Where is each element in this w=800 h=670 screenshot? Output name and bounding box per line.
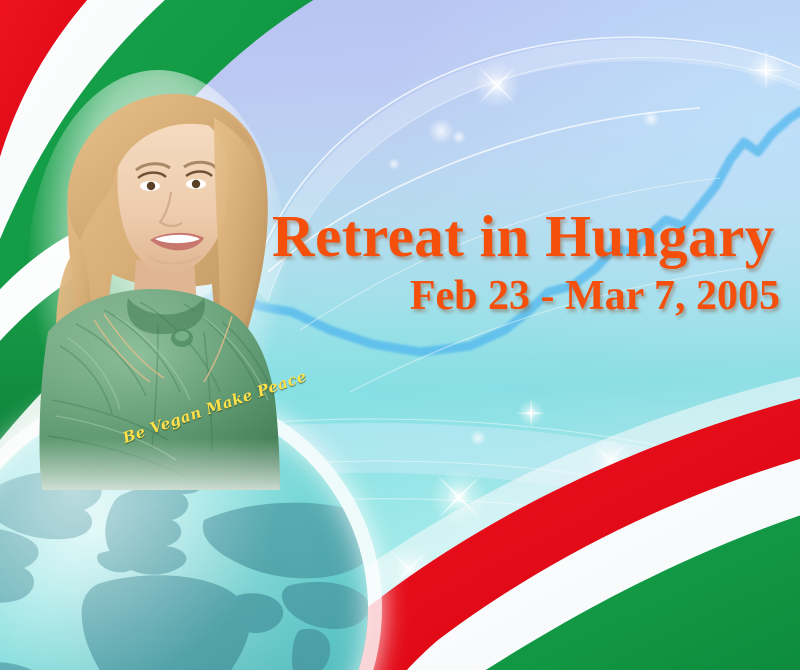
event-dates: Feb 23 - Mar 7, 2005 (272, 274, 792, 318)
poster-canvas: Be Vegan Make Peace Retreat in Hungary F… (0, 0, 800, 670)
person-portrait-icon: Be Vegan Make Peace (8, 70, 308, 490)
headline-block: Retreat in Hungary Feb 23 - Mar 7, 2005 (272, 206, 792, 318)
page-title: Retreat in Hungary (272, 206, 792, 266)
